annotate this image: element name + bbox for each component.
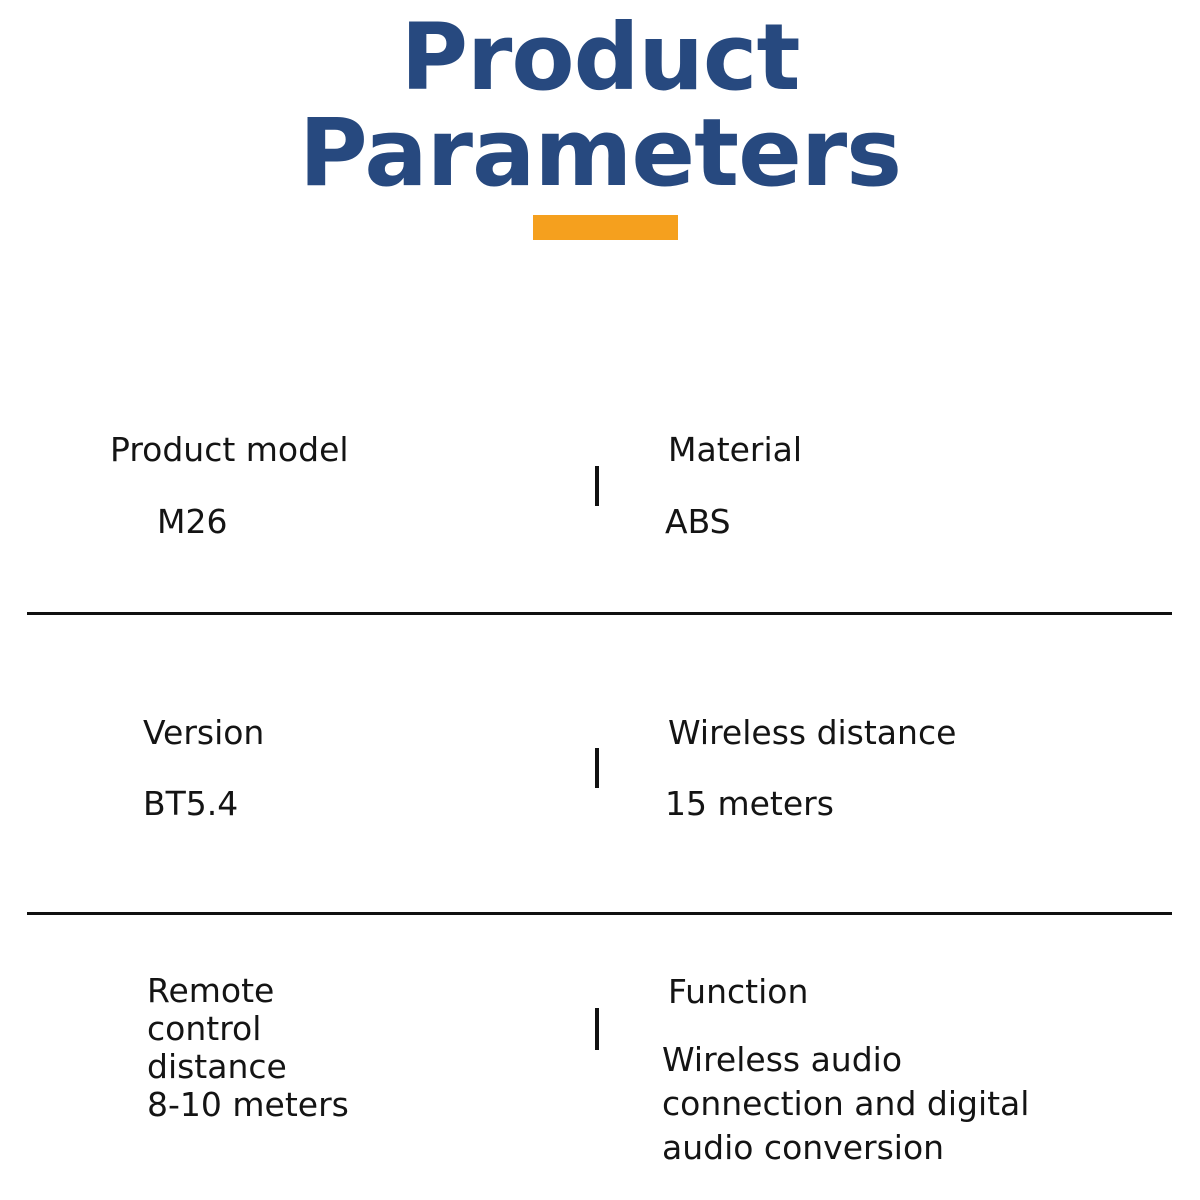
spec-cell-right: Wireless distance 15 meters	[604, 713, 1200, 824]
spec-value: 15 meters	[604, 784, 1200, 824]
spec-label: Version	[0, 713, 590, 753]
spec-label: Product model	[0, 430, 590, 470]
row-separator	[27, 612, 1172, 615]
column-divider	[595, 748, 599, 788]
spec-cell-left: Remote control distance 8-10 meters	[0, 972, 590, 1124]
spec-cell-right: Material ABS	[604, 430, 1200, 542]
column-divider	[595, 466, 599, 506]
spec-value: BT5.4	[0, 784, 590, 824]
spec-table: Product model M26 Material ABS Version B…	[0, 0, 1200, 1200]
product-parameters-page: Product Parameters Product model M26 Mat…	[0, 0, 1200, 1200]
spec-cell-right: Function Wireless audio connection and d…	[604, 972, 1200, 1170]
spec-value: 8-10 meters	[0, 1086, 590, 1124]
row-separator	[27, 912, 1172, 915]
spec-value: M26	[0, 502, 590, 542]
spec-label: Remote control distance	[0, 972, 300, 1086]
spec-value: Wireless audio connection and digital au…	[604, 1038, 1074, 1170]
spec-label: Material	[604, 430, 1200, 470]
column-divider	[595, 1008, 599, 1050]
spec-label: Wireless distance	[604, 713, 1200, 753]
spec-value: ABS	[604, 502, 1200, 542]
spec-cell-left: Product model M26	[0, 430, 590, 542]
spec-label: Function	[604, 972, 1200, 1012]
spec-cell-left: Version BT5.4	[0, 713, 590, 824]
